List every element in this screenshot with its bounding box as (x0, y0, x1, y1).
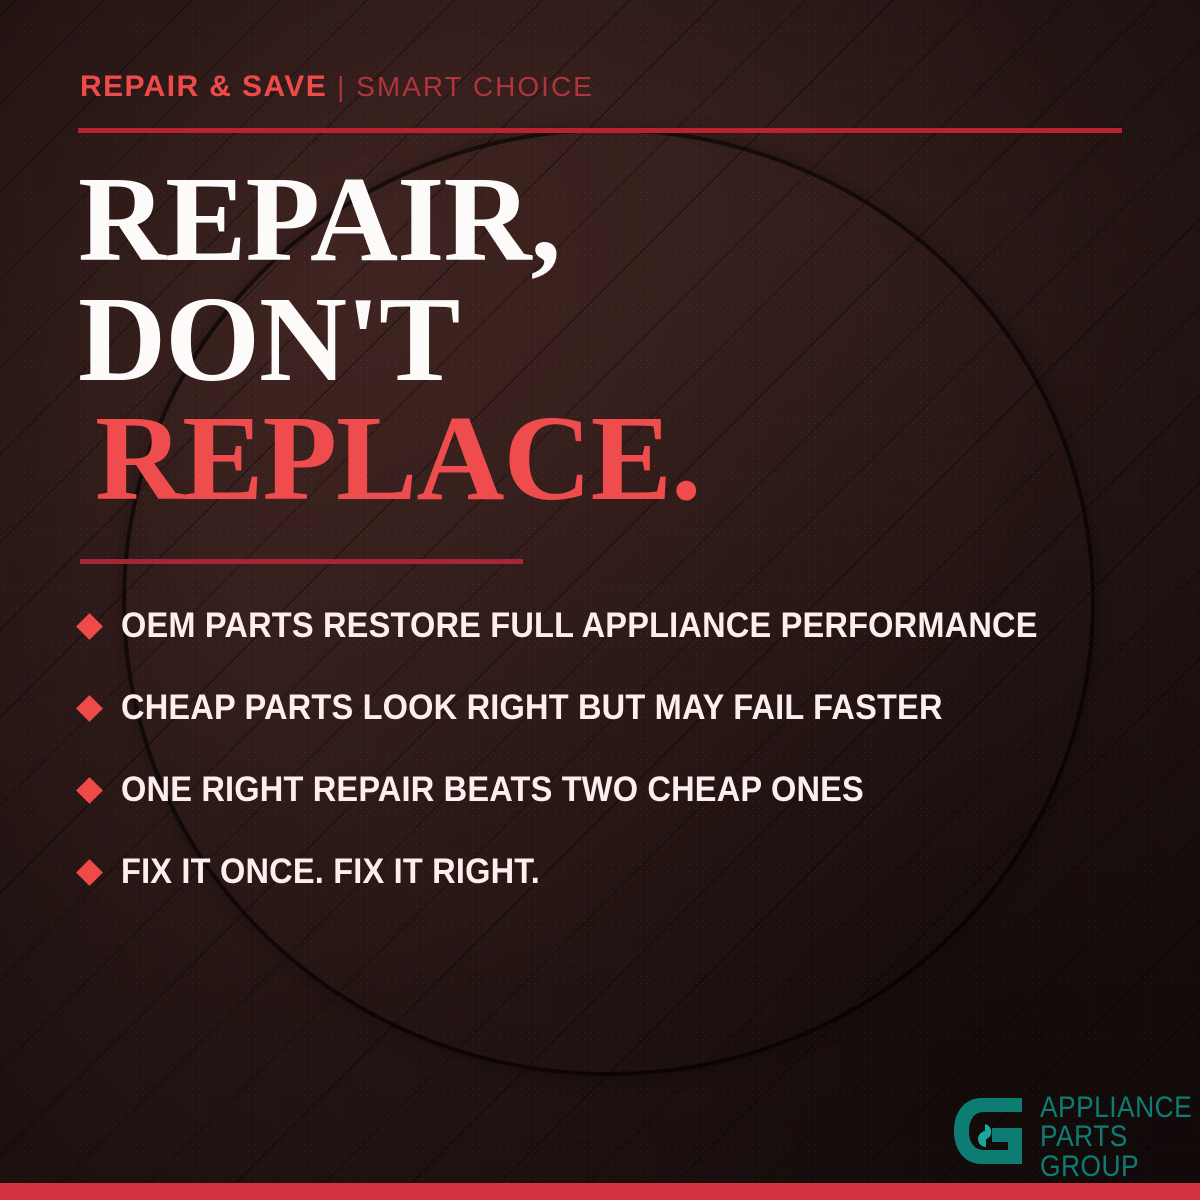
diamond-bullet-icon (76, 613, 103, 640)
list-item-label: FIX IT ONCE. FIX IT RIGHT. (121, 852, 540, 892)
eyebrow-light-label: | SMART CHOICE (337, 71, 594, 102)
top-divider-rule (78, 128, 1122, 133)
poster-content: REPAIR & SAVE| SMART CHOICE REPAIR, DON'… (0, 0, 1200, 1200)
list-item-label: OEM PARTS RESTORE FULL APPLIANCE PERFORM… (121, 606, 1038, 646)
headline-line-1: REPAIR, (78, 160, 1138, 280)
headline: REPAIR, DON'T REPLACE. (78, 160, 1138, 519)
poster-canvas: REPAIR & SAVE| SMART CHOICE REPAIR, DON'… (0, 0, 1200, 1200)
list-item-label: ONE RIGHT REPAIR BEATS TWO CHEAP ONES (121, 770, 864, 810)
list-item-label: CHEAP PARTS LOOK RIGHT BUT MAY FAIL FAST… (121, 688, 943, 728)
headline-divider-rule (80, 559, 523, 564)
brand-logo-wordmark: APPLIANCE PARTS GROUP (1040, 1092, 1200, 1181)
list-item: CHEAP PARTS LOOK RIGHT BUT MAY FAIL FAST… (80, 667, 1150, 749)
diamond-bullet-icon (76, 777, 103, 804)
list-item: FIX IT ONCE. FIX IT RIGHT. (80, 831, 1150, 913)
diamond-bullet-icon (76, 859, 103, 886)
benefit-list: OEM PARTS RESTORE FULL APPLIANCE PERFORM… (80, 585, 1150, 913)
bottom-accent-bar (0, 1183, 1200, 1200)
brand-word-1: APPLIANCE (1040, 1093, 1192, 1122)
brand-word-2: PARTS (1040, 1122, 1192, 1151)
headline-line-3: REPLACE. (78, 399, 1138, 519)
diamond-bullet-icon (76, 695, 103, 722)
headline-line-2: DON'T (78, 280, 1138, 400)
list-item: OEM PARTS RESTORE FULL APPLIANCE PERFORM… (80, 585, 1150, 667)
brand-logo: APPLIANCE PARTS GROUP (948, 1092, 1200, 1181)
eyebrow-strong-label: REPAIR & SAVE (80, 70, 327, 103)
eyebrow: REPAIR & SAVE| SMART CHOICE (80, 72, 594, 102)
g-monogram-icon (948, 1092, 1030, 1170)
list-item: ONE RIGHT REPAIR BEATS TWO CHEAP ONES (80, 749, 1150, 831)
brand-word-3: GROUP (1040, 1152, 1192, 1181)
